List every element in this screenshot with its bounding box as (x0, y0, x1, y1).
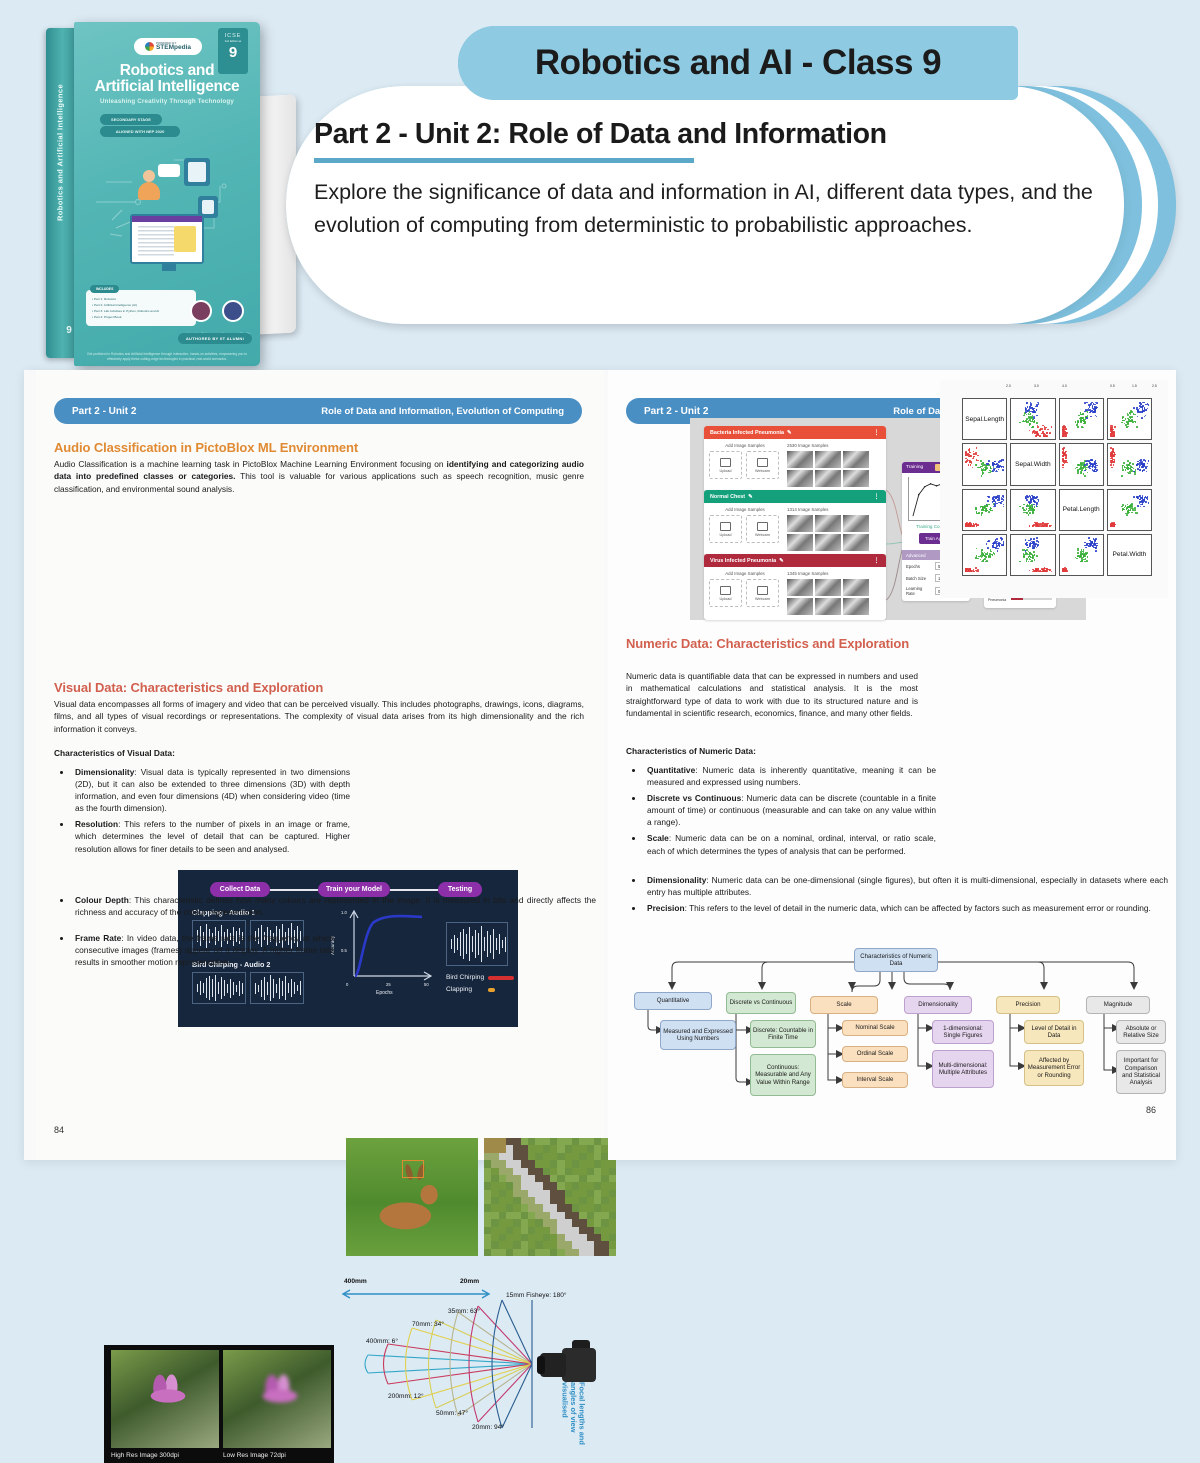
list-visual-characteristics-3: Frame Rate: In video data, the frame rat… (72, 932, 334, 972)
splom-scatter-cell (1059, 534, 1104, 576)
flow-root-node: Characteristics of Numeric Data (854, 948, 938, 972)
class-tab: Robotics and AI - Class 9 (458, 26, 1018, 100)
focal-label-400mm: 400mm: 6° (366, 1338, 398, 1345)
book-spine: Robotics and Artificial Intelligence 9 (46, 28, 76, 358)
flow-leaf-level-of-detail: Level of Detail in Data (1024, 1020, 1084, 1044)
cover-monitor-illustration (130, 214, 204, 264)
ml-class-card-bacteria: Bacteria Infected Pneumonia ✎ ⋮ Add Imag… (704, 426, 886, 492)
splom-scatter-cell (1010, 398, 1055, 440)
splom-scatter-cell (1010, 489, 1055, 531)
logo-brand-name: STEMpedia (156, 44, 191, 51)
legend-bar-clapping (488, 988, 495, 992)
focal-label-200mm: 200mm: 12° (388, 1393, 424, 1400)
stempedia-star-icon (145, 42, 154, 51)
flow-leaf-comparison-analysis: Important for Comparison and Statistical… (1116, 1050, 1166, 1094)
ml-class-name: Bacteria Infected Pneumonia (710, 430, 784, 436)
cover-card-hand (184, 158, 210, 186)
splom-tick: 1.5 (1132, 384, 1137, 388)
char-term: Precision (647, 903, 685, 913)
splom-scatter-cell (1010, 534, 1055, 576)
param-label: Epochs (906, 564, 932, 569)
book-spread: Part 2 - Unit 2 Role of Data and Informa… (24, 370, 1176, 1160)
splom-scatter-cell (962, 534, 1007, 576)
list-numeric-characteristics-2: Dimensionality: Numeric data can be one-… (644, 874, 1168, 918)
seal-learning-outcomes-icon (190, 300, 212, 322)
runhead-topic: Role of Data and Information, Evolution … (321, 406, 564, 417)
list-visual-characteristics: Dimensionality: Visual data is typically… (72, 766, 350, 859)
char-term: Resolution (75, 819, 118, 829)
list-item: Scale: Numeric data can be on a nominal,… (644, 832, 936, 856)
flow-leaf-measured-expressed: Measured and Expressed Using Numbers (660, 1020, 736, 1050)
splom-scatter-cell (962, 443, 1007, 485)
ml-sample-grid (787, 515, 869, 551)
lotus-resolution-comparison: High Res Image 300dpi Low Res Image 72dp… (104, 1345, 334, 1463)
list-numeric-characteristics: Quantitative: Numeric data is inherently… (644, 764, 936, 861)
numeric-data-flowchart: Characteristics of Numeric Data Quantita… (618, 948, 1166, 1108)
camera-illustration (540, 1340, 596, 1386)
includes-label: INCLUDES (90, 285, 119, 293)
subheading-characteristics-visual: Characteristics of Visual Data: (54, 748, 175, 758)
ml-class-header: Normal Chest ✎ ⋮ (704, 490, 886, 503)
chart-xtick-50: 50 (424, 982, 429, 987)
more-options-icon[interactable]: ⋮ (874, 429, 881, 436)
ml-sample-grid (787, 451, 869, 487)
splom-tick: 3.0 (1034, 384, 1039, 388)
flow-node-quantitative: Quantitative (634, 992, 712, 1010)
char-text: : This refers to the level of detail in … (685, 903, 1151, 913)
upload-label: Upload (719, 533, 731, 537)
ml-class-card-normal: Normal Chest ✎ ⋮ Add Image Samples Uploa… (704, 490, 886, 556)
section-heading-audio-classification: Audio Classification in PictoBlox ML Env… (54, 440, 584, 455)
paragraph-numeric-data: Numeric data is quantifiable data that c… (626, 670, 918, 719)
book-cover-illustration (86, 142, 248, 282)
section-heading-numeric-data: Numeric Data: Characteristics and Explor… (626, 636, 918, 652)
splom-scatter-cell (1107, 398, 1152, 440)
iris-scatterplot-matrix: 2.0 3.0 4.0 0.5 1.5 2.5 Sepal.LengthSepa… (940, 380, 1168, 598)
title-underline (314, 158, 694, 163)
ml-class-name: Normal Chest (710, 494, 745, 500)
camera-icon (757, 586, 768, 595)
page-right: Part 2 - Unit 2 Role of Data and Informa… (608, 370, 1176, 1160)
book-pill-stage: SECONDARY STAGE (100, 114, 162, 125)
page-title: Part 2 - Unit 2: Role of Data and Inform… (314, 118, 1074, 151)
list-item: Discrete vs Continuous: Numeric data can… (644, 792, 936, 828)
list-item: Colour Depth: This characteristic define… (72, 894, 596, 918)
ml-class-card-virus: Virus Infected Pneumonia ✎ ⋮ Add Image S… (704, 554, 886, 620)
book-subtitle: Unleashing Creativity Through Technology (74, 98, 260, 105)
focal-length-diagram: 400mm 20mm (336, 1278, 604, 1463)
char-term: Colour Depth (75, 895, 129, 905)
char-term: Dimensionality (75, 767, 134, 777)
ml-add-samples-label: Add Image Samples (709, 443, 781, 448)
deer-resolution-illustration (346, 1138, 616, 1256)
page-number-left: 84 (54, 1125, 64, 1135)
char-term: Frame Rate (75, 933, 121, 943)
upload-icon (720, 522, 731, 531)
book-cover-footer: Get proficient in Robotics and Artificia… (84, 352, 250, 362)
ml-training-title: Training (906, 465, 923, 470)
advanced-label: Advanced (906, 553, 926, 558)
camera-icon (757, 522, 768, 531)
splom-scatter-cell (1059, 398, 1104, 440)
flow-leaf-interval-scale: Interval Scale (842, 1072, 908, 1088)
book-authored-badge: AUTHORED BY IIT ALUMNI (178, 333, 252, 344)
flow-node-discrete-continuous: Discrete vs Continuous (726, 992, 796, 1014)
list-item: Frame Rate: In video data, the frame rat… (72, 932, 334, 968)
legend-bar-bird (488, 976, 514, 980)
char-text: : This characteristic defines how many c… (75, 895, 596, 917)
focal-label-50mm: 50mm: 47° (436, 1410, 468, 1417)
char-term: Scale (647, 833, 669, 843)
list-item: Resolution: This refers to the number of… (72, 818, 350, 854)
list-item: Dimensionality: Numeric data can be one-… (644, 874, 1168, 898)
edit-pencil-icon[interactable]: ✎ (748, 494, 753, 500)
webcam-button[interactable]: Webcam (746, 451, 779, 479)
flow-leaf-1-dimensional: 1-dimensional: Single Figures (932, 1020, 994, 1044)
book-front-face: POWERED BY STEMpedia ICSE 2nd Edition as… (74, 22, 260, 366)
camera-icon (757, 458, 768, 467)
flow-leaf-discrete: Discrete: Countable in Finite Time (750, 1020, 816, 1048)
legend-clapping: Clapping (446, 986, 472, 993)
upload-button[interactable]: Upload (709, 579, 742, 607)
param-label: Learning Rate (906, 586, 932, 596)
badge-board: ICSE (218, 33, 248, 39)
splom-tick: 4.0 (1062, 384, 1067, 388)
splom-tick: 2.0 (1006, 384, 1011, 388)
book-title-line2: Artificial Intelligence (74, 78, 260, 96)
running-head-left: Part 2 - Unit 2 Role of Data and Informa… (54, 398, 582, 424)
stempedia-logo: POWERED BY STEMpedia (134, 38, 202, 55)
ml-class-header: Virus Infected Pneumonia ✎ ⋮ (704, 554, 886, 567)
flow-leaf-continuous: Continuous: Measurable and Any Value Wit… (750, 1054, 816, 1096)
waveform-test-sample (446, 922, 508, 966)
chart-xtick-25: 25 (386, 982, 391, 987)
char-term: Discrete vs Continuous (647, 793, 741, 803)
splom-scatter-cell (1107, 443, 1152, 485)
more-options-icon[interactable]: ⋮ (874, 493, 881, 500)
upload-label: Upload (719, 469, 731, 473)
chars-label-visual: Characteristics of Visual Data (54, 748, 172, 758)
char-text: : Numeric data can be on a nominal, ordi… (647, 833, 936, 855)
webcam-button[interactable]: Webcam (746, 515, 779, 543)
chart-xtick-0: 0 (346, 982, 348, 987)
list-visual-characteristics-2: Colour Depth: This characteristic define… (72, 894, 596, 922)
page-number-right: 86 (1146, 1105, 1156, 1115)
param-label: Batch Size (906, 576, 932, 581)
splom-scatter-cell (1107, 489, 1152, 531)
focal-caption-vertical: Focal lengths and angles of view visuali… (560, 1382, 586, 1456)
char-text: : Numeric data can be one-dimensional (s… (647, 875, 1168, 897)
caption-high-res: High Res Image 300dpi (111, 1452, 179, 1459)
splom-scatter-cell (962, 489, 1007, 531)
ml-add-samples-label: Add Image Samples (709, 571, 781, 576)
runhead-unit: Part 2 - Unit 2 (644, 406, 708, 417)
waveform-bird-1 (192, 972, 246, 1004)
splom-grid: Sepal.LengthSepal.WidthPetal.LengthPetal… (962, 398, 1152, 576)
webcam-label: Webcam (755, 469, 770, 473)
chart-x-axis-label: Epochs (376, 990, 393, 996)
ml-sample-count: 1345 Image Samples (787, 571, 869, 576)
list-item: Part 4: Project Book (92, 315, 191, 321)
flow-node-dimensionality: Dimensionality (904, 996, 972, 1014)
splom-scatter-cell (1059, 443, 1104, 485)
caption-low-res: Low Res Image 72dpi (223, 1452, 286, 1459)
subheading-characteristics-numeric: Characteristics of Numeric Data: (626, 746, 756, 756)
runhead-unit: Part 2 - Unit 2 (72, 406, 136, 417)
ml-class-header: Bacteria Infected Pneumonia ✎ ⋮ (704, 426, 886, 439)
cover-chat-bubble-icon (158, 164, 180, 177)
splom-diagonal-label: Petal.Length (1059, 489, 1104, 531)
upload-label: Upload (719, 597, 731, 601)
more-options-icon[interactable]: ⋮ (874, 557, 881, 564)
image-deer-full (346, 1138, 478, 1256)
section-heading-visual-data: Visual Data: Characteristics and Explora… (54, 680, 584, 695)
splom-diagonal-label: Petal.Width (1107, 534, 1152, 576)
legend-bird-chirping: Bird Chirping (446, 974, 484, 981)
list-item: Dimensionality: Visual data is typically… (72, 766, 350, 814)
seal-assessment-quality-icon (222, 300, 244, 322)
char-term: Quantitative (647, 765, 695, 775)
list-item: Quantitative: Numeric data is inherently… (644, 764, 936, 788)
focal-label-fisheye: 15mm Fisheye: 180° (506, 1292, 567, 1299)
paragraph-audio-intro: Audio Classification is a machine learni… (54, 458, 584, 495)
paragraph-visual-data: Visual data encompasses all forms of ima… (54, 698, 584, 735)
webcam-label: Webcam (755, 597, 770, 601)
pixel-grid (484, 1138, 616, 1256)
splom-tick: 2.5 (1152, 384, 1157, 388)
chars-label-numeric: Characteristics of Numeric Data (626, 746, 753, 756)
hero-description: Explore the significance of data and inf… (314, 176, 1110, 241)
focal-label-35mm: 35mm: 63° (448, 1308, 480, 1315)
upload-icon (720, 458, 731, 467)
webcam-label: Webcam (755, 533, 770, 537)
image-deer-pixelated (484, 1138, 616, 1256)
focal-label-20mm: 20mm: 94° (472, 1424, 504, 1431)
flow-leaf-measurement-error: Affected by Measurement Error or Roundin… (1024, 1050, 1084, 1086)
list-item: Precision: This refers to the level of d… (644, 902, 1168, 914)
ml-sample-grid (787, 579, 869, 615)
upload-button[interactable]: Upload (709, 451, 742, 479)
badge-class-number: 9 (218, 45, 248, 60)
edit-pencil-icon[interactable]: ✎ (787, 430, 792, 436)
splom-tick: 0.5 (1110, 384, 1115, 388)
ml-add-samples-label: Add Image Samples (709, 507, 781, 512)
flow-node-precision: Precision (996, 996, 1060, 1014)
ml-class-name: Virus Infected Pneumonia (710, 558, 776, 564)
waveform-bird-2 (250, 972, 304, 1004)
class-tab-label: Robotics and AI - Class 9 (535, 43, 941, 83)
flow-leaf-nominal-scale: Nominal Scale (842, 1020, 908, 1036)
flow-node-scale: Scale (810, 996, 878, 1014)
focal-label-70mm: 70mm: 34° (412, 1321, 444, 1328)
audio-intro-part1: Audio Classification is a machine learni… (54, 459, 447, 469)
edit-pencil-icon[interactable]: ✎ (779, 558, 784, 564)
char-term: Dimensionality (647, 875, 706, 885)
image-low-res (223, 1350, 331, 1448)
page-left: Part 2 - Unit 2 Role of Data and Informa… (36, 370, 604, 1160)
image-high-res (111, 1350, 219, 1448)
book-pill-nep: ALIGNED WITH NEP 2020 (100, 126, 180, 137)
badge-edition: 2nd Edition as (218, 40, 248, 43)
flow-node-magnitude: Magnitude (1086, 996, 1150, 1014)
flow-leaf-ordinal-scale: Ordinal Scale (842, 1046, 908, 1062)
ml-sample-count: 1314 Image Samples (787, 507, 869, 512)
zoom-region-marker (402, 1160, 424, 1178)
webcam-button[interactable]: Webcam (746, 579, 779, 607)
book-includes-box: INCLUDES Part 1: Robotics Part 2: Artifi… (86, 290, 196, 326)
upload-icon (720, 586, 731, 595)
splom-diagonal-label: Sepal.Length (962, 398, 1007, 440)
flow-leaf-multi-dimensional: Multi-dimensional: Multiple Attributes (932, 1050, 994, 1088)
upload-button[interactable]: Upload (709, 515, 742, 543)
book-cover: Robotics and Artificial Intelligence 9 P… (38, 18, 290, 358)
book-spine-title: Robotics and Artificial Intelligence (56, 53, 65, 253)
chart-ytick-0_5: 0.5 (341, 948, 347, 953)
cover-person-illustration (138, 170, 160, 200)
splom-diagonal-label: Sepal.Width (1010, 443, 1055, 485)
flow-leaf-absolute-relative: Absolute or Relative Size (1116, 1020, 1166, 1044)
ml-sample-count: 2530 Image Samples (787, 443, 869, 448)
hero-banner: Robotics and Artificial Intelligence 9 P… (0, 0, 1200, 368)
